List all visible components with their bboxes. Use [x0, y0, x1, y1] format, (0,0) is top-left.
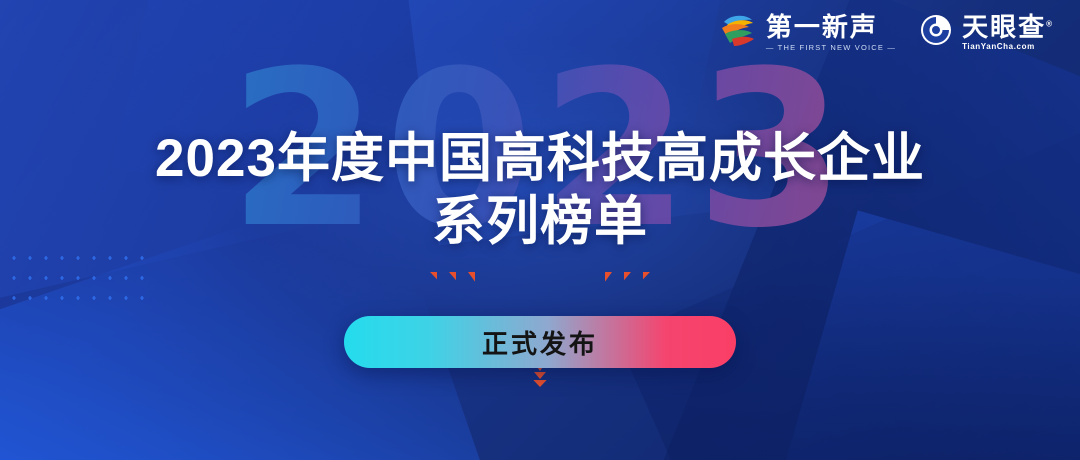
release-status-pill[interactable]: 正式发布	[344, 316, 736, 368]
logo-group: 第一新声 — THE FIRST NEW VOICE — 天眼查® TianYa…	[718, 11, 1054, 54]
logo-cn-name-text: 天眼查	[962, 12, 1046, 42]
eye-lens-logo-icon	[918, 12, 954, 53]
swirl-logo-icon	[718, 11, 758, 54]
release-status-label: 正式发布	[482, 324, 598, 361]
page-title: 2023年度中国高科技高成长企业 系列榜单	[0, 128, 1080, 253]
headline-line-1: 2023年度中国高科技高成长企业	[0, 128, 1080, 191]
trademark-symbol: ®	[1046, 19, 1054, 28]
tianyancha-text: 天眼查® TianYanCha.com	[962, 14, 1054, 51]
logo-first-new-voice[interactable]: 第一新声 — THE FIRST NEW VOICE —	[718, 11, 896, 54]
first-new-voice-text: 第一新声 — THE FIRST NEW VOICE —	[766, 14, 896, 52]
promo-banner: 2023 2023年度中国高科技高成长企业 系列榜单 正式发布	[0, 0, 1080, 460]
headline-line-2: 系列榜单	[0, 191, 1080, 254]
logo-tagline: — THE FIRST NEW VOICE —	[766, 44, 896, 52]
logo-cn-name: 天眼查®	[962, 14, 1054, 40]
logo-cn-name: 第一新声	[766, 14, 896, 40]
dot-grid-decoration	[6, 248, 151, 308]
logo-tagline: TianYanCha.com	[962, 43, 1054, 51]
logo-tianyancha[interactable]: 天眼查® TianYanCha.com	[918, 12, 1054, 53]
